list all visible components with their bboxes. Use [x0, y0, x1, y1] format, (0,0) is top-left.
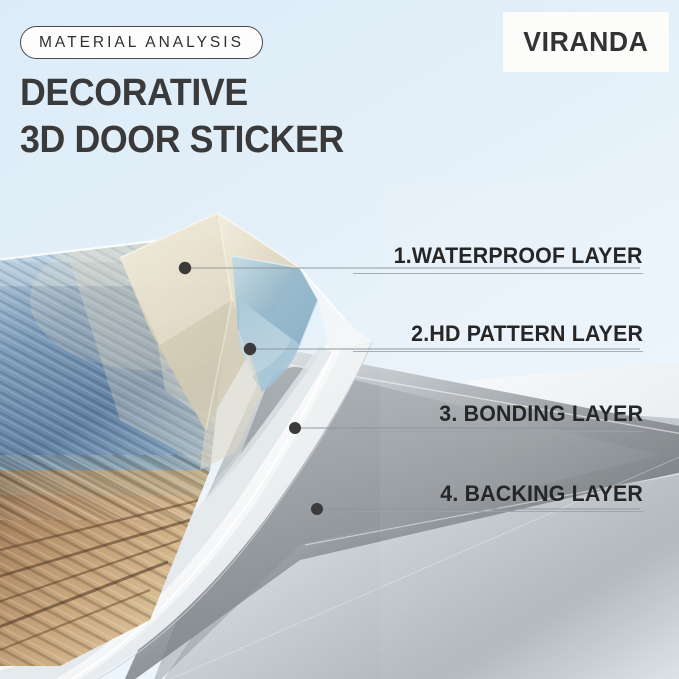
brand-name: VIRANDA	[523, 26, 648, 58]
callout-layer-4: 4. BACKING LAYER	[353, 481, 643, 512]
badge-label: MATERIAL ANALYSIS	[39, 34, 244, 52]
callout-layer-1: 1.WATERPROOF LAYER	[353, 243, 643, 274]
callout-layer-2-label: 2.HD PATTERN LAYER	[411, 321, 643, 347]
callout-layer-2: 2.HD PATTERN LAYER	[353, 321, 643, 352]
title-line-1: DECORATIVE	[20, 70, 452, 117]
callout-underline	[353, 511, 643, 512]
brand-logo: VIRANDA	[503, 12, 669, 72]
page-title: DECORATIVE 3D DOOR STICKER	[20, 70, 480, 164]
callout-underline	[353, 351, 643, 352]
infographic-canvas: MATERIAL ANALYSIS DECORATIVE 3D DOOR STI…	[0, 0, 679, 679]
callout-layer-1-label: 1.WATERPROOF LAYER	[394, 243, 643, 269]
title-line-2: 3D DOOR STICKER	[20, 117, 452, 164]
callout-layer-3: 3. BONDING LAYER	[353, 401, 643, 432]
material-analysis-badge: MATERIAL ANALYSIS	[20, 26, 263, 59]
callout-layer-4-label: 4. BACKING LAYER	[440, 481, 643, 507]
callout-layer-3-label: 3. BONDING LAYER	[439, 401, 643, 427]
callout-underline	[353, 273, 643, 274]
callout-underline	[353, 431, 643, 432]
